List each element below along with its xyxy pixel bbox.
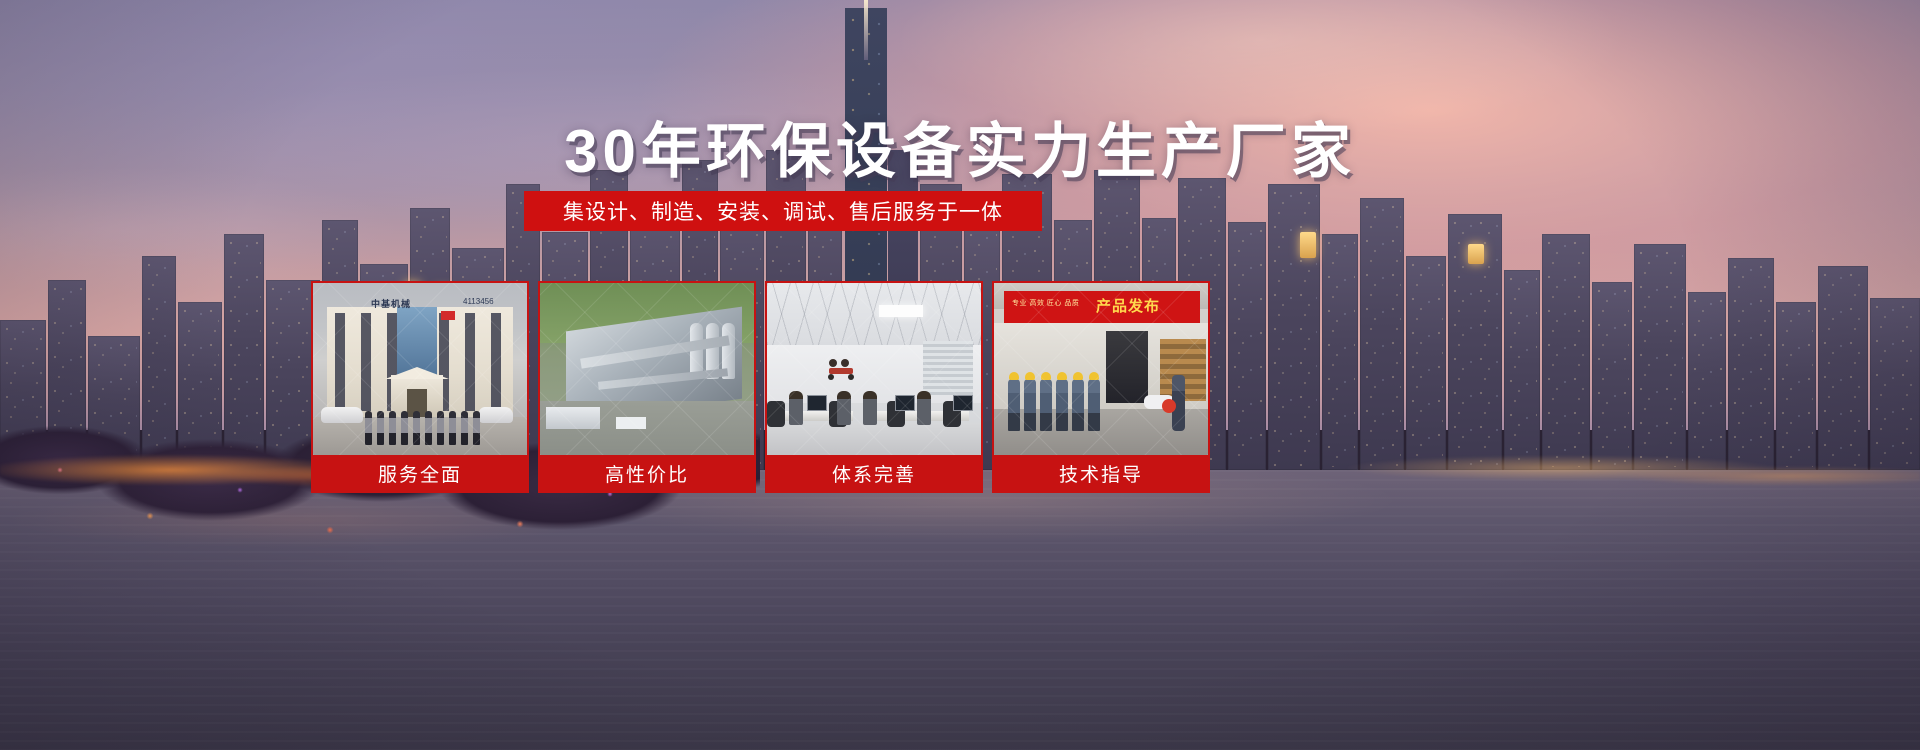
- card-caption-label: 服务全面: [378, 460, 462, 487]
- workshop-red-banner: 专业 高效 匠心 品质 产品发布: [1004, 291, 1200, 323]
- card-caption-label: 体系完善: [832, 460, 916, 487]
- building-sign-text: 中基机械: [371, 297, 411, 310]
- card-caption-system: 体系完善: [767, 455, 981, 491]
- card-caption-value: 高性价比: [540, 455, 754, 491]
- feature-card-list: 中基机械 4113456: [311, 281, 1249, 493]
- workshop-banner-text: 产品发布: [1096, 295, 1160, 316]
- subtitle-bar: 集设计、制造、安装、调试、售后服务于一体: [524, 191, 1042, 231]
- feature-card-guidance[interactable]: 专业 高效 匠心 品质 产品发布: [992, 281, 1210, 493]
- wall-decal-icon: [823, 355, 859, 381]
- card-photo-office-building: 中基机械 4113456: [313, 283, 527, 455]
- card-caption-guidance: 技术指导: [994, 455, 1208, 491]
- feature-card-service[interactable]: 中基机械 4113456: [311, 281, 529, 493]
- feature-card-value[interactable]: 高性价比: [538, 281, 756, 493]
- feature-card-system[interactable]: 体系完善: [765, 281, 983, 493]
- hero-banner: 30年环保设备实力生产厂家 集设计、制造、安装、调试、售后服务于一体 中基机械 …: [0, 0, 1920, 750]
- building-sign-number: 4113456: [463, 297, 494, 306]
- page-title: 30年环保设备实力生产厂家: [0, 103, 1920, 190]
- card-photo-aerial-plant: [540, 283, 754, 455]
- card-caption-service: 服务全面: [313, 455, 527, 491]
- card-photo-workshop: 专业 高效 匠心 品质 产品发布: [994, 283, 1208, 455]
- banner-content: 30年环保设备实力生产厂家 集设计、制造、安装、调试、售后服务于一体 中基机械 …: [0, 0, 1920, 750]
- subtitle-text: 集设计、制造、安装、调试、售后服务于一体: [563, 196, 1003, 226]
- workshop-banner-side-text: 专业 高效 匠心 品质: [1012, 300, 1079, 308]
- card-caption-label: 技术指导: [1059, 460, 1143, 487]
- card-caption-label: 高性价比: [605, 460, 689, 487]
- card-photo-office-interior: [767, 283, 981, 455]
